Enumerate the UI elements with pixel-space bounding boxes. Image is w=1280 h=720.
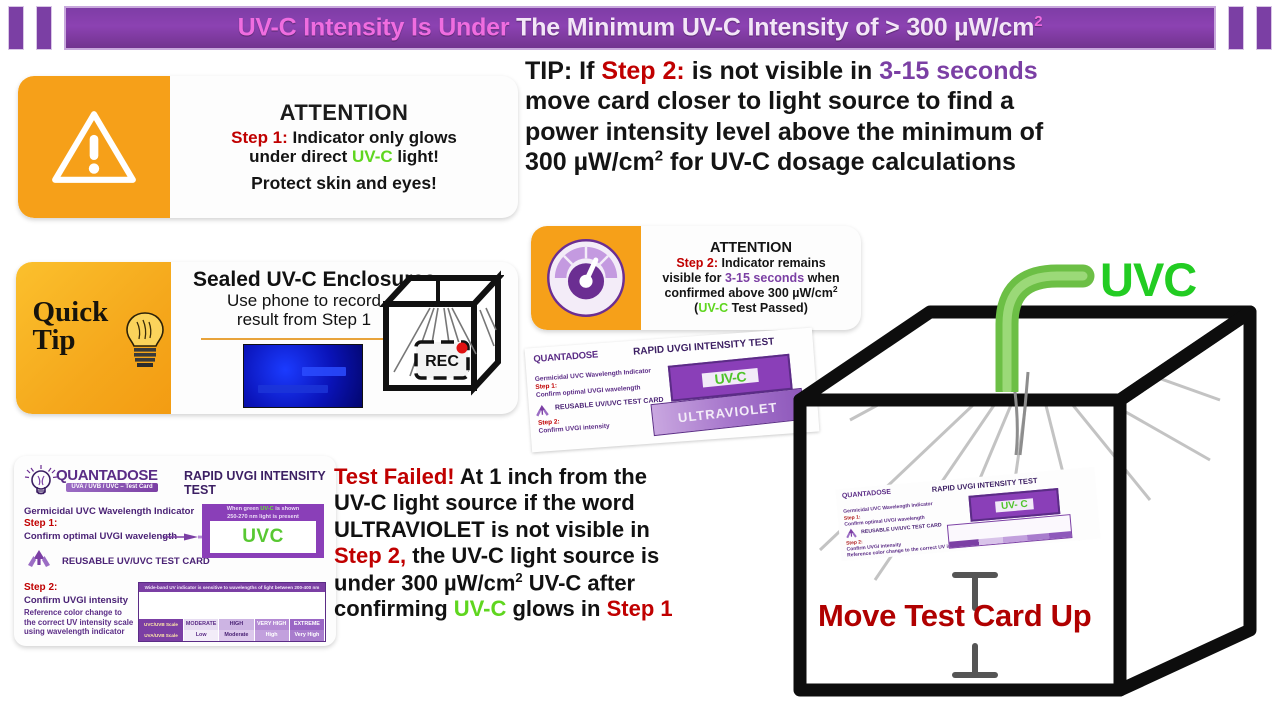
big-card-logo-subtitle: UVA / UVB / UVC – Test Card: [66, 483, 158, 492]
scale-cell: MODERATE: [184, 619, 219, 630]
fail-l6-step1: Step 1: [607, 596, 673, 621]
big-card-step1-text: Confirm optimal UVGI wavelength: [24, 531, 177, 542]
scale-cell: Very High: [290, 630, 325, 641]
warning-triangle-icon: [50, 109, 138, 185]
fail-line-5: under 300 µW/cm2 UV-C after: [334, 570, 804, 597]
attention-icon-panel: [18, 76, 170, 218]
fail-l6-p3: glows in: [506, 596, 606, 621]
uvc-cap-pre: When green: [227, 506, 261, 512]
fail-line-4: Step 2, the UV-C light source is: [334, 543, 804, 569]
step2-label: Step 2:: [676, 256, 718, 270]
fail-step2-label: Step 2,: [334, 543, 406, 568]
big-card-uvc-caption: When green UV-C is shown 250-270 nm ligh…: [202, 506, 324, 521]
tip-l4-p3: for UV-C dosage calculations: [663, 148, 1016, 176]
enclosure-box-icon: REC: [376, 268, 504, 396]
attention-card-body: ATTENTION Step 1: Indicator only glows u…: [170, 76, 518, 218]
attention-uvc-line: under direct UV-C light!: [249, 147, 439, 166]
inner-uvc-text: UV- C: [995, 498, 1034, 512]
enclosure-illustration: UVC Move Test Card Up QUANTADOSE RAPID U…: [780, 250, 1280, 720]
attention-step-line: Step 1: Indicator only glows: [231, 128, 457, 147]
big-card-germ-line: Germicidal UVC Wavelength Indicator: [24, 506, 194, 517]
banner-tick-left-2: [36, 6, 52, 50]
uv-glow-photo: [243, 344, 363, 408]
title-part-highlight: UV-C Intensity Is Under: [238, 14, 510, 42]
infographic-canvas: UV-C Intensity Is Under The Minimum UV-C…: [0, 0, 1280, 720]
banner-bar: UV-C Intensity Is Under The Minimum UV-C…: [64, 6, 1216, 50]
recycle-icon: [844, 527, 859, 540]
big-card-logo: QUANTADOSE: [56, 467, 158, 484]
intensity-scale: UVC/UVB Scale MODERATE HIGH VERY HIGH EX…: [139, 619, 325, 641]
title-part-rest: The Minimum UV-C Intensity of > 300 µW/c…: [509, 14, 1034, 42]
big-card-uvc-window: UVC: [210, 521, 316, 553]
tip-l4-sup: 2: [655, 147, 663, 164]
uvc-source-label: UVC: [1100, 252, 1196, 307]
fail-line-3: ULTRAVIOLET is not visible in: [334, 517, 804, 543]
quick-tip-body: Sealed UV-C Enclosures Use phone to reco…: [171, 262, 518, 414]
uvc-keyword: UV-C: [352, 147, 393, 166]
big-card-step2-text: Confirm UVGI intensity: [24, 595, 128, 606]
page-title: UV-C Intensity Is Under The Minimum UV-C…: [238, 13, 1043, 42]
big-card-step2-sub: Reference color change to the correct UV…: [24, 608, 134, 637]
attention-card-step1: ATTENTION Step 1: Indicator only glows u…: [18, 76, 518, 218]
fail-line-1: Test Failed! At 1 inch from the: [334, 464, 804, 490]
big-card-wideband-panel: Wide-band UV indicator is sensitive to w…: [138, 582, 326, 642]
fail-l6-uvc: UV-C: [454, 596, 507, 621]
fail-line-6: confirming UV-C glows in Step 1: [334, 596, 804, 622]
quick-tip-bubble: Quick Tip: [19, 268, 169, 408]
big-card-header: QUANTADOSE UVA / UVB / UVC – Test Card R…: [24, 464, 328, 502]
quick-tip-word-1: Quick: [33, 298, 109, 326]
scale-row2-label: UVA/UVB Scale: [139, 630, 184, 641]
banner-tick-right-2: [1256, 6, 1272, 50]
step1-text: Indicator only glows: [288, 128, 457, 147]
banner-tick-left-1: [8, 6, 24, 50]
big-test-card: QUANTADOSE UVA / UVB / UVC – Test Card R…: [14, 456, 336, 646]
banner-tick-right-1: [1228, 6, 1244, 50]
tip-line-4: 300 µW/cm2 for UV-C dosage calculations: [525, 147, 1225, 177]
mini-test-card: QUANTADOSE RAPID UVGI INTENSITY TEST Ger…: [525, 328, 820, 453]
scale-cell: VERY HIGH: [255, 619, 290, 630]
test-failed-text-block: Test Failed! At 1 inch from the UV-C lig…: [334, 464, 804, 623]
green-curved-arrow-icon: [965, 252, 1105, 392]
quick-tip-card: Quick Tip Sealed UV-C Enclosures Use pho…: [16, 262, 518, 414]
big-card-step1-label: Step 1:: [24, 518, 57, 529]
visible-pre: visible for: [662, 271, 725, 285]
tip-l1-p3: is not visible in: [685, 57, 879, 85]
uvc-line-post: light!: [393, 147, 439, 166]
scale-cell: HIGH: [219, 619, 254, 630]
recycle-icon: [26, 548, 52, 572]
gauge-meter-icon: [545, 237, 627, 319]
scale-cell: Low: [184, 630, 219, 641]
scale-row1-label: UVC/UVB Scale: [139, 619, 184, 630]
attention-footer: Protect skin and eyes!: [251, 173, 437, 194]
lightbulb-icon: [123, 310, 167, 372]
wideband-header: Wide-band UV indicator is sensitive to w…: [139, 583, 325, 592]
fail-line-2: UV-C light source if the word: [334, 490, 804, 516]
passed-uvc: UV-C: [698, 301, 728, 315]
scale-cell: High: [255, 630, 290, 641]
tip-l1-p1: TIP: If: [525, 57, 601, 85]
tip-l1-duration: 3-15 seconds: [879, 57, 1037, 85]
tip-l4-p1: 300 µW/cm: [525, 148, 655, 176]
uvc-cap-line2: 250-270 nm light is present: [227, 514, 299, 520]
scale-row-uva: UVA/UVB Scale Low Moderate High Very Hig…: [139, 630, 325, 641]
fail-l5-p3: UV-C after: [523, 570, 635, 595]
move-test-card-label: Move Test Card Up: [818, 598, 1091, 634]
fail-l1-rest: At 1 inch from the: [455, 464, 647, 489]
mini-band-text: ULTRAVIOLET: [677, 399, 778, 425]
fail-headline: Test Failed!: [334, 464, 455, 489]
scale-cell: Moderate: [219, 630, 254, 641]
attention2-icon-panel: [531, 226, 641, 330]
quick-tip-badge-panel: Quick Tip: [16, 262, 171, 414]
mini-uvc-text: UV-C: [702, 368, 759, 388]
big-card-uvc-indicator-box: When green UV-C is shown 250-270 nm ligh…: [202, 504, 324, 558]
title-banner-group: UV-C Intensity Is Under The Minimum UV-C…: [0, 6, 1280, 50]
tip-line-2: move card closer to light source to find…: [525, 86, 1225, 116]
title-superscript: 2: [1034, 13, 1042, 30]
uvc-line-pre: under direct: [249, 147, 352, 166]
uvc-cap-post: is shown: [274, 506, 300, 512]
tip-l1-step2: Step 2:: [601, 57, 684, 85]
tip-line-1: TIP: If Step 2: is not visible in 3-15 s…: [525, 56, 1225, 86]
recycle-icon: [533, 403, 552, 418]
tip-line-3: power intensity level above the minimum …: [525, 117, 1225, 147]
fail-l4-rest: the UV-C light source is: [406, 543, 659, 568]
big-card-title: RAPID UVGI INTENSITY TEST: [184, 469, 328, 497]
uvc-cap-keyword: UV-C: [260, 506, 273, 512]
quick-tip-word-2: Tip: [33, 326, 109, 354]
fail-l5-p1: under 300 µW/cm: [334, 570, 515, 595]
photo-streak-2: [258, 385, 328, 393]
fail-l6-p1: confirming: [334, 596, 454, 621]
big-card-reusable-label: REUSABLE UV/UVC TEST CARD: [62, 556, 210, 567]
tip-text-block: TIP: If Step 2: is not visible in 3-15 s…: [525, 56, 1225, 177]
attention-heading: ATTENTION: [280, 100, 409, 126]
lightbulb-logo-icon: [24, 464, 58, 502]
quick-tip-label: Quick Tip: [33, 298, 109, 355]
big-card-step2-label: Step 2:: [24, 582, 57, 593]
step1-label: Step 1:: [231, 128, 288, 147]
photo-streak-1: [302, 367, 346, 376]
big-card-uvc-text: UVC: [242, 526, 284, 548]
fail-l5-sup: 2: [515, 570, 522, 585]
photo-gradient: [244, 345, 362, 407]
scale-cell: EXTREME: [290, 619, 325, 630]
svg-text:REC: REC: [425, 353, 459, 370]
scale-row-uvc: UVC/UVB Scale MODERATE HIGH VERY HIGH EX…: [139, 619, 325, 630]
